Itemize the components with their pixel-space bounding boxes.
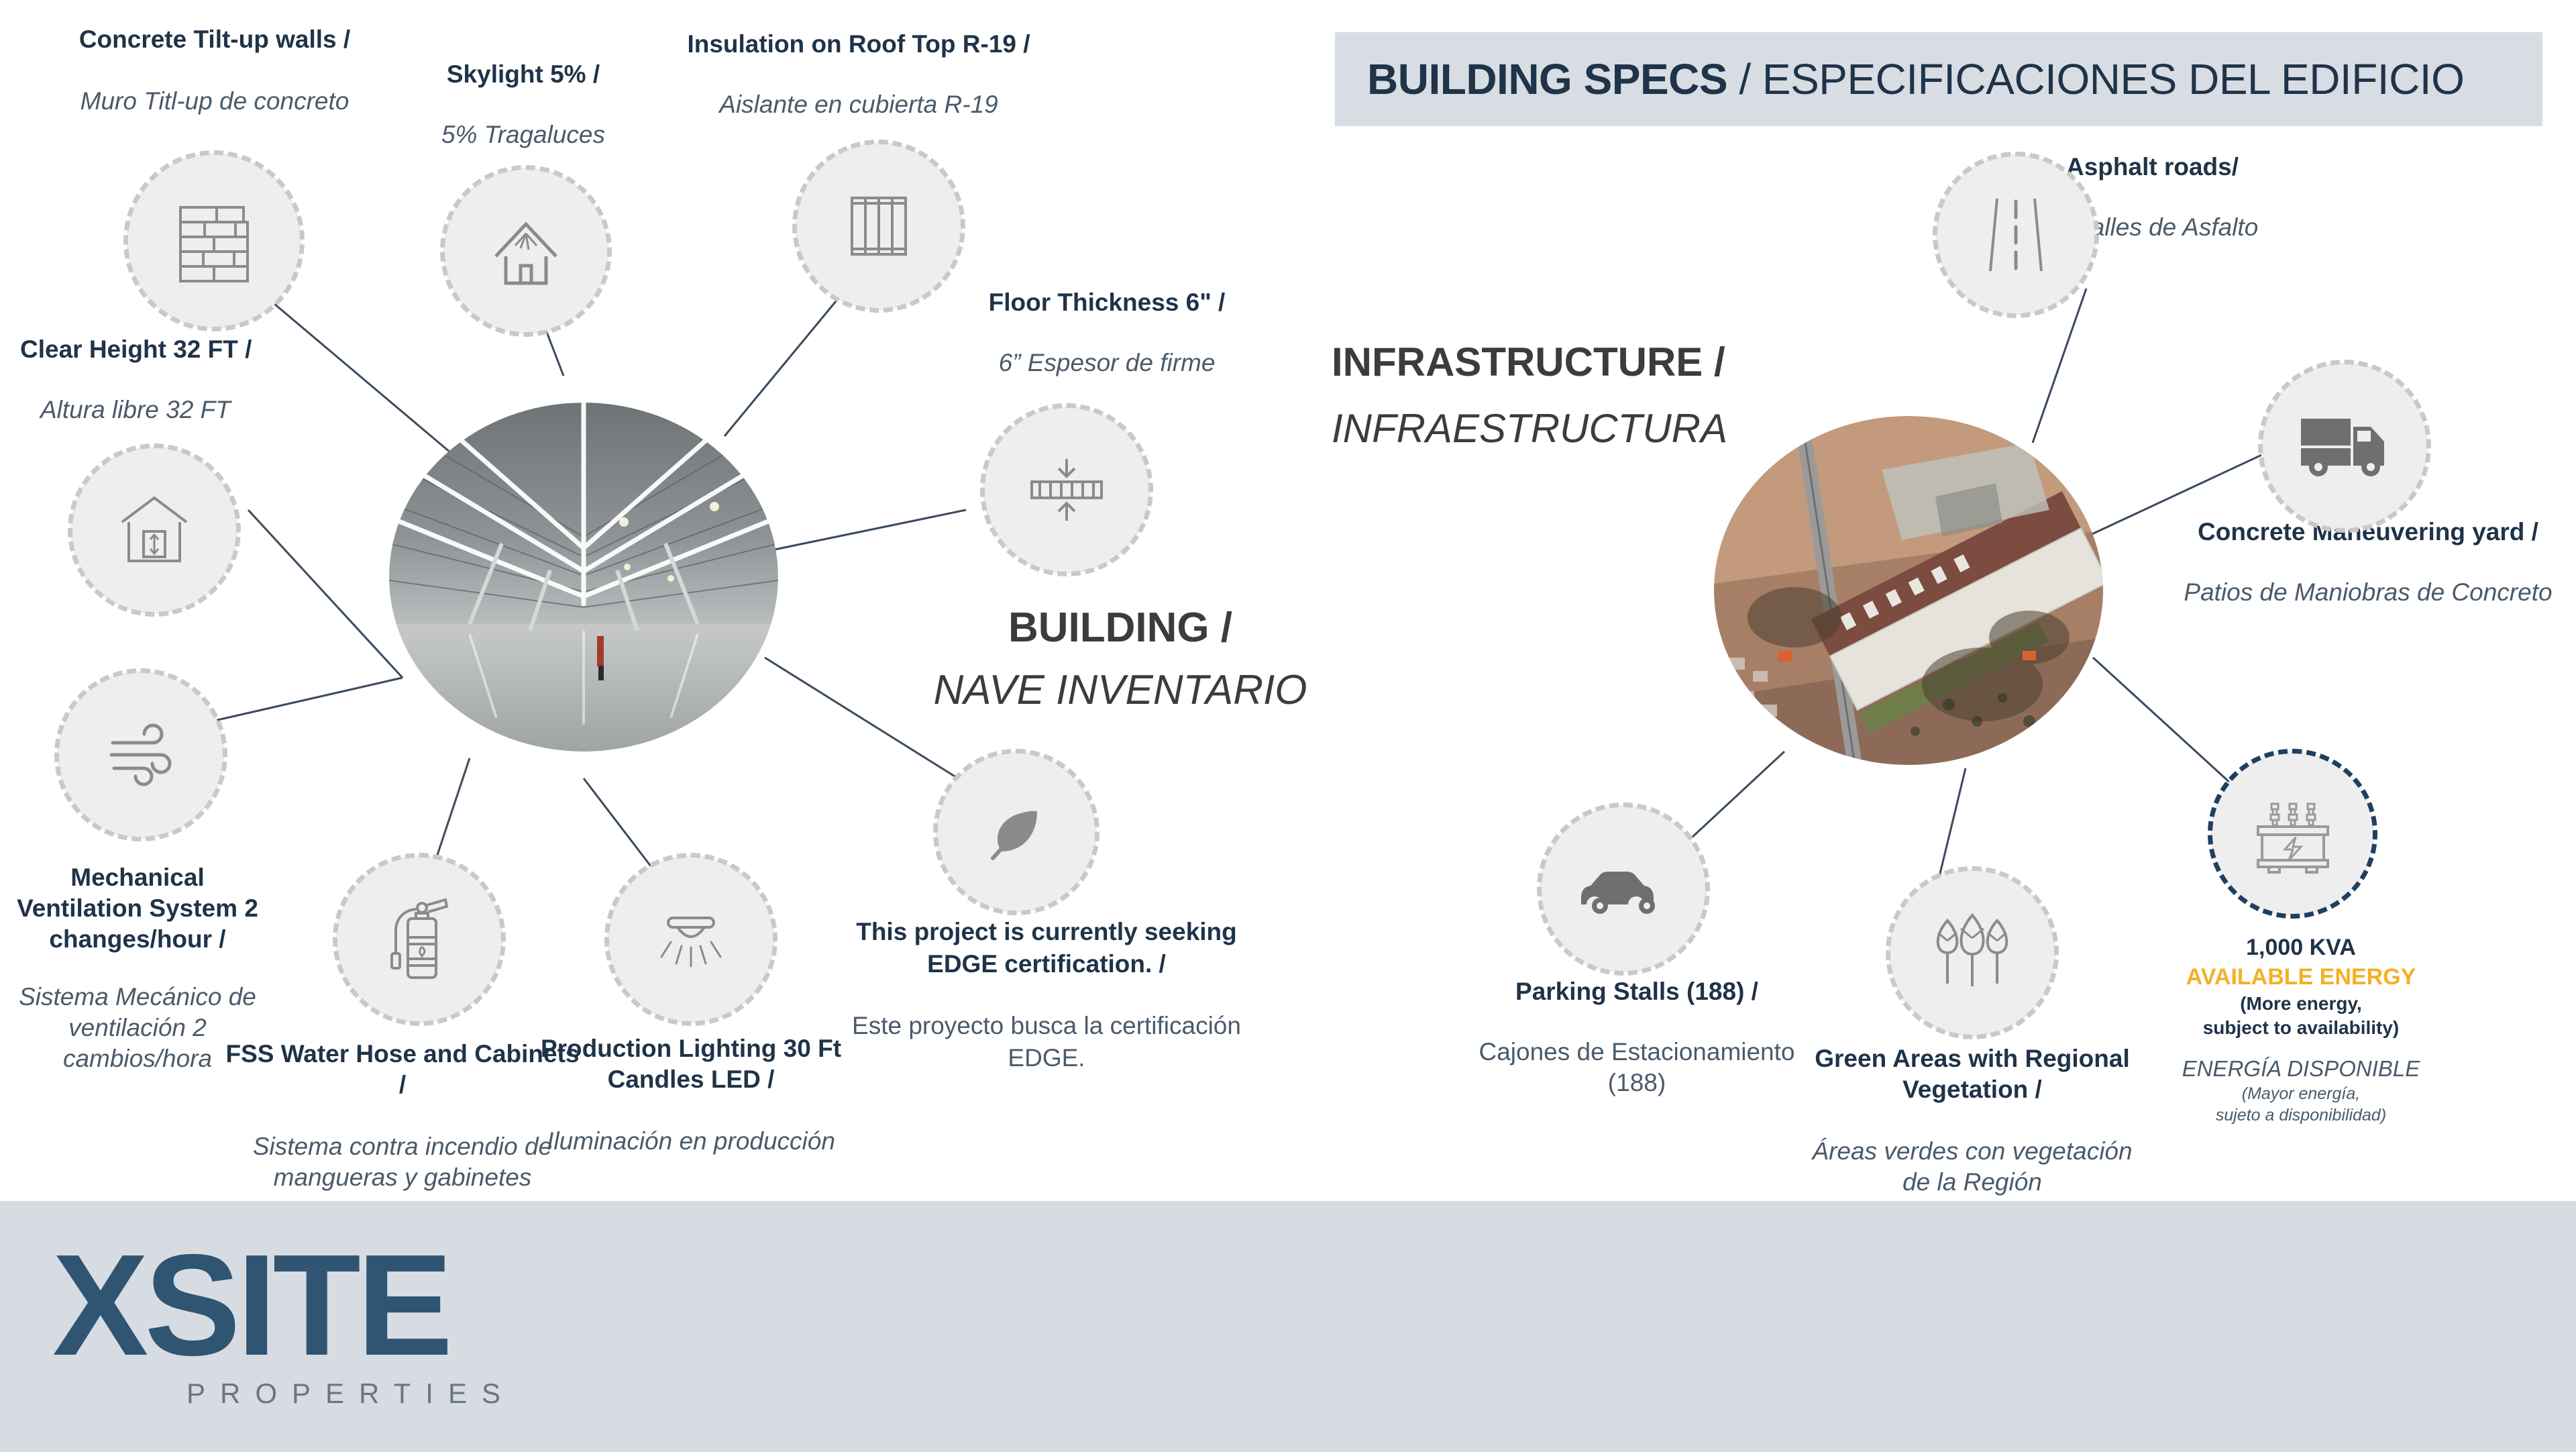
label-roof-insulation: Insulation on Roof Top R-19 / Aislante e…	[644, 30, 1073, 119]
label-es: Calles de Asfalto	[2073, 213, 2442, 242]
label-es: Iluminación en producción	[530, 1126, 852, 1157]
fire-extinguisher-icon	[335, 855, 503, 1023]
brick-wall-icon	[126, 153, 302, 329]
label-green-areas: Green Areas with Regional Vegetation / Á…	[1805, 1043, 2140, 1198]
label-es: Muro Titl-up de concreto	[7, 87, 423, 115]
infrastructure-center-es: INFRAESTRUCTURA	[1332, 405, 1815, 452]
label-en: Green Areas with Regional Vegetation /	[1805, 1043, 2140, 1105]
xsite-properties-logo: XSITE PROPERTIES	[52, 1238, 508, 1412]
label-es: 6” Espesor de firme	[919, 349, 1295, 377]
trees-icon	[1888, 869, 2056, 1037]
label-es: Sistema contra incendio de mangueras y g…	[221, 1131, 584, 1193]
label-en: Skylight 5% /	[389, 60, 657, 89]
label-en: Clear Height 32 FT /	[20, 335, 369, 364]
label-es: Altura libre 32 FT	[40, 396, 369, 424]
wind-ventilation-icon	[57, 671, 225, 839]
label-en: Mechanical Ventilation System 2 changes/…	[13, 862, 262, 955]
infographic-page: BUILDING SPECS / ESPECIFICACIONES DEL ED…	[0, 0, 2576, 1452]
clear-height-icon	[70, 446, 238, 614]
infrastructure-center-en: INFRASTRUCTURE /	[1332, 339, 1815, 385]
label-clear-height: Clear Height 32 FT / Altura libre 32 FT	[20, 335, 369, 424]
label-es: 5% Tragaluces	[389, 121, 657, 149]
infrastructure-center-title: INFRASTRUCTURE / INFRAESTRUCTURA	[1332, 339, 1815, 452]
available-energy-headline: AVAILABLE ENERGY	[2127, 962, 2475, 992]
building-center-en: BUILDING /	[885, 604, 1355, 652]
label-en: Parking Stalls (188) /	[1462, 976, 1811, 1007]
car-icon	[1540, 805, 1707, 973]
insulation-panel-icon	[795, 142, 963, 310]
available-energy-es-note1: (Mayor energía,	[2127, 1083, 2475, 1104]
logo-tagline: PROPERTIES	[186, 1378, 508, 1410]
label-en: Floor Thickness 6" /	[919, 289, 1295, 317]
available-energy-note-line2: subject to availability)	[2127, 1016, 2475, 1040]
label-floor-thickness: Floor Thickness 6" / 6” Espesor de firme	[919, 289, 1295, 377]
building-center-es: NAVE INVENTARIO	[885, 666, 1355, 714]
leaf-icon	[936, 751, 1097, 913]
label-parking-stalls: Parking Stalls (188) / Cajones de Estaci…	[1462, 976, 1811, 1098]
transformer-icon	[2210, 751, 2375, 916]
led-light-icon	[607, 855, 775, 1023]
label-fss-water-hose: FSS Water Hose and Cabinets / Sistema co…	[221, 1039, 584, 1193]
label-en: This project is currently seeking EDGE c…	[825, 916, 1268, 980]
truck-icon	[2261, 362, 2428, 530]
label-es: Aislante en cubierta R-19	[644, 91, 1073, 119]
label-concrete-maneuvering-yard: Concrete Maneuvering yard / Patios de Ma…	[2180, 517, 2556, 608]
logo-wordmark: XSITE	[52, 1238, 508, 1372]
label-es: Este proyecto busca la certificación EDG…	[825, 1010, 1268, 1074]
label-production-lighting: Production Lighting 30 Ft Candles LED / …	[530, 1033, 852, 1157]
label-es: Áreas verdes con vegetación de la Región	[1805, 1136, 2140, 1198]
label-en: Production Lighting 30 Ft Candles LED /	[530, 1033, 852, 1095]
label-concrete-tilt-up-walls: Concrete Tilt-up walls / Muro Titl-up de…	[7, 25, 423, 115]
header-title-sep: /	[1727, 55, 1762, 103]
building-center-title: BUILDING / NAVE INVENTARIO	[885, 604, 1355, 714]
warehouse-interior-photo	[389, 403, 778, 751]
label-available-energy: 1,000 KVA AVAILABLE ENERGY (More energy,…	[2127, 933, 2475, 1126]
available-energy-es: ENERGÍA DISPONIBLE	[2127, 1055, 2475, 1083]
label-en: Concrete Tilt-up walls /	[7, 25, 423, 54]
aerial-site-photo	[1714, 416, 2103, 765]
label-en: Insulation on Roof Top R-19 /	[644, 30, 1073, 58]
header-title-bold: BUILDING SPECS	[1367, 55, 1727, 103]
floor-thickness-icon	[983, 406, 1150, 574]
available-energy-es-note2: sujeto a disponibilidad)	[2127, 1104, 2475, 1126]
label-asphalt-roads: Asphalt roads/ Calles de Asfalto	[2066, 153, 2442, 242]
label-es: Cajones de Estacionamiento (188)	[1462, 1037, 1811, 1098]
skylight-house-icon	[443, 168, 609, 334]
label-en: Asphalt roads/	[2066, 153, 2442, 181]
header-title: BUILDING SPECS / ESPECIFICACIONES DEL ED…	[1335, 54, 2464, 104]
available-energy-note-line1: (More energy,	[2127, 992, 2475, 1016]
label-es: Patios de Maniobras de Concreto	[2180, 577, 2556, 608]
building-specs-header: BUILDING SPECS / ESPECIFICACIONES DEL ED…	[1335, 32, 2542, 126]
header-title-rest: ESPECIFICACIONES DEL EDIFICIO	[1762, 55, 2464, 103]
label-skylight: Skylight 5% / 5% Tragaluces	[389, 60, 657, 149]
label-edge-certification: This project is currently seeking EDGE c…	[825, 916, 1268, 1074]
available-energy-kva: 1,000 KVA	[2127, 933, 2475, 962]
label-en: FSS Water Hose and Cabinets /	[221, 1039, 584, 1100]
road-icon	[1935, 154, 2096, 315]
